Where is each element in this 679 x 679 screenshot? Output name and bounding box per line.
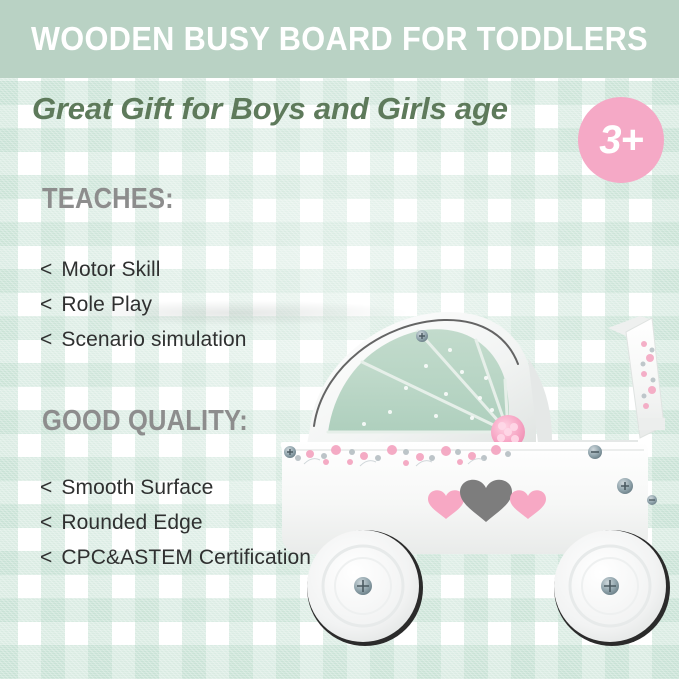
bullet-marker: < bbox=[40, 546, 52, 569]
quality-bullet-3: <CPC&ASTEM Certification bbox=[40, 546, 311, 570]
bullet-marker: < bbox=[40, 293, 52, 316]
pram-svg bbox=[240, 300, 679, 679]
wheel-rear bbox=[554, 530, 670, 646]
hood-screw bbox=[416, 330, 428, 342]
page-title: WOODEN BUSY BOARD FOR TODDLERS bbox=[24, 0, 655, 78]
wooden-toy-pram-illustration bbox=[240, 300, 679, 679]
teaches-heading: TEACHES: bbox=[42, 183, 174, 216]
bullet-marker: < bbox=[40, 476, 52, 499]
bullet-label: Rounded Edge bbox=[61, 511, 202, 534]
bullet-label: CPC&ASTEM Certification bbox=[61, 546, 311, 569]
subtitle-text: Great Gift for Boys and Girls age bbox=[32, 91, 508, 127]
teaches-bullet-1: <Motor Skill bbox=[40, 258, 161, 282]
bullet-marker: < bbox=[40, 511, 52, 534]
age-badge-label: 3+ bbox=[599, 120, 643, 160]
good-quality-heading: GOOD QUALITY: bbox=[42, 405, 248, 438]
teaches-bullet-2: <Role Play bbox=[40, 293, 152, 317]
product-infographic: WOODEN BUSY BOARD FOR TODDLERS Great Gif… bbox=[0, 0, 679, 679]
header-band: WOODEN BUSY BOARD FOR TODDLERS bbox=[0, 0, 679, 78]
bullet-marker: < bbox=[40, 328, 52, 351]
bullet-label: Smooth Surface bbox=[61, 476, 213, 499]
teaches-bullet-3: <Scenario simulation bbox=[40, 328, 247, 352]
quality-bullet-2: <Rounded Edge bbox=[40, 511, 203, 535]
bullet-label: Motor Skill bbox=[61, 258, 160, 281]
hood-fan-panels bbox=[328, 329, 509, 432]
pram-handle bbox=[608, 316, 665, 438]
bullet-label: Scenario simulation bbox=[61, 328, 246, 351]
quality-bullet-1: <Smooth Surface bbox=[40, 476, 213, 500]
bullet-label: Role Play bbox=[61, 293, 152, 316]
wheel-front bbox=[307, 530, 423, 646]
pram-hood bbox=[306, 312, 537, 450]
bullet-marker: < bbox=[40, 258, 52, 281]
age-badge: 3+ bbox=[578, 97, 664, 183]
